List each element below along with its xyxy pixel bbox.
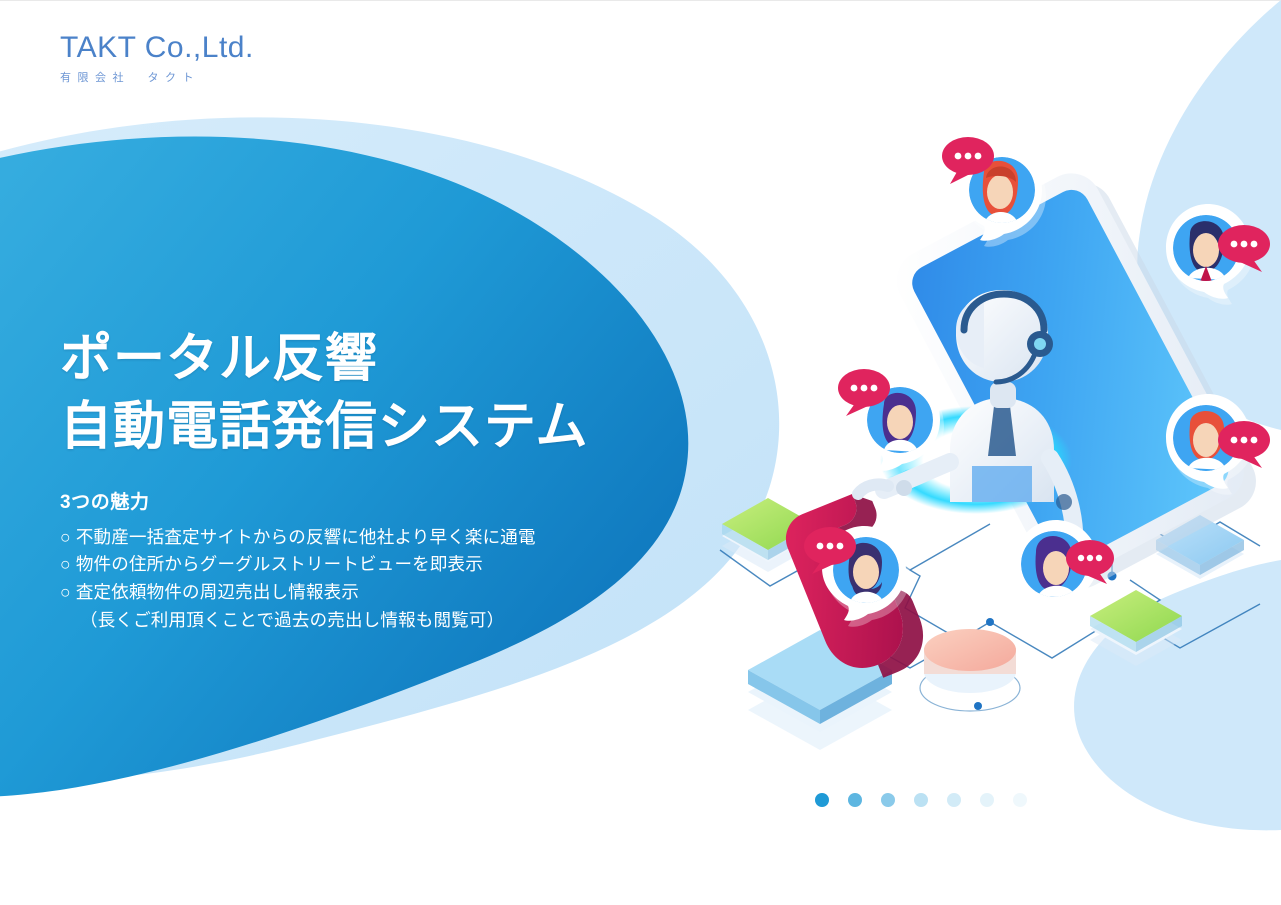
bullet-text: （長くご利用頂くことで過去の売出し情報も閲覧可） xyxy=(80,610,504,630)
pagination-dot-6[interactable] xyxy=(980,793,994,807)
pagination-dot-2[interactable] xyxy=(848,793,862,807)
page-title: ポータル反響 自動電話発信システム xyxy=(60,326,700,461)
headline-line-2: 自動電話発信システム xyxy=(60,394,700,462)
list-item: ○ 物件の住所からグーグルストリートビューを即表示 xyxy=(60,551,700,579)
tile-green-right xyxy=(1090,590,1182,666)
pagination-dot-5[interactable] xyxy=(947,793,961,807)
pagination-dot-4[interactable] xyxy=(914,793,928,807)
pagination-dot-1[interactable] xyxy=(815,793,829,807)
bullet-text: 査定依頼物件の周辺売出し情報表示 xyxy=(76,582,359,602)
logo-company-subtitle: 有限会社 タクト xyxy=(60,69,254,85)
pagination-dot-7[interactable] xyxy=(1013,793,1027,807)
ai-call-center-illustration xyxy=(660,130,1281,750)
slide-root: TAKT Co.,Ltd. 有限会社 タクト xyxy=(0,0,1281,905)
list-item-note: （長くご利用頂くことで過去の売出し情報も閲覧可） xyxy=(60,607,700,635)
pagination-dot-3[interactable] xyxy=(881,793,895,807)
bullet-marker: ○ xyxy=(60,527,71,547)
logo-company-name: TAKT Co.,Ltd. xyxy=(60,32,254,64)
brand-logo[interactable]: TAKT Co.,Ltd. 有限会社 タクト xyxy=(60,32,254,85)
headline-block: ポータル反響 自動電話発信システム 3つの魅力 ○ 不動産一括査定サイトからの反… xyxy=(60,326,700,634)
bullet-marker: ○ xyxy=(60,582,71,602)
features-list: ○ 不動産一括査定サイトからの反響に他社より早く楽に通電 ○ 物件の住所からグー… xyxy=(60,524,700,635)
list-item: ○ 不動産一括査定サイトからの反響に他社より早く楽に通電 xyxy=(60,524,700,552)
bullet-text: 不動産一括査定サイトからの反響に他社より早く楽に通電 xyxy=(76,527,536,547)
avatar-badge-upper-right xyxy=(1166,204,1270,305)
headline-line-1: ポータル反響 xyxy=(60,330,378,388)
bullet-marker: ○ xyxy=(60,554,71,574)
pagination-dots[interactable] xyxy=(815,793,1027,807)
bullet-text: 物件の住所からグーグルストリートビューを即表示 xyxy=(76,554,483,574)
features-heading: 3つの魅力 xyxy=(60,489,700,518)
list-item: ○ 査定依頼物件の周辺売出し情報表示 xyxy=(60,579,700,607)
tile-peach-button xyxy=(920,629,1020,711)
